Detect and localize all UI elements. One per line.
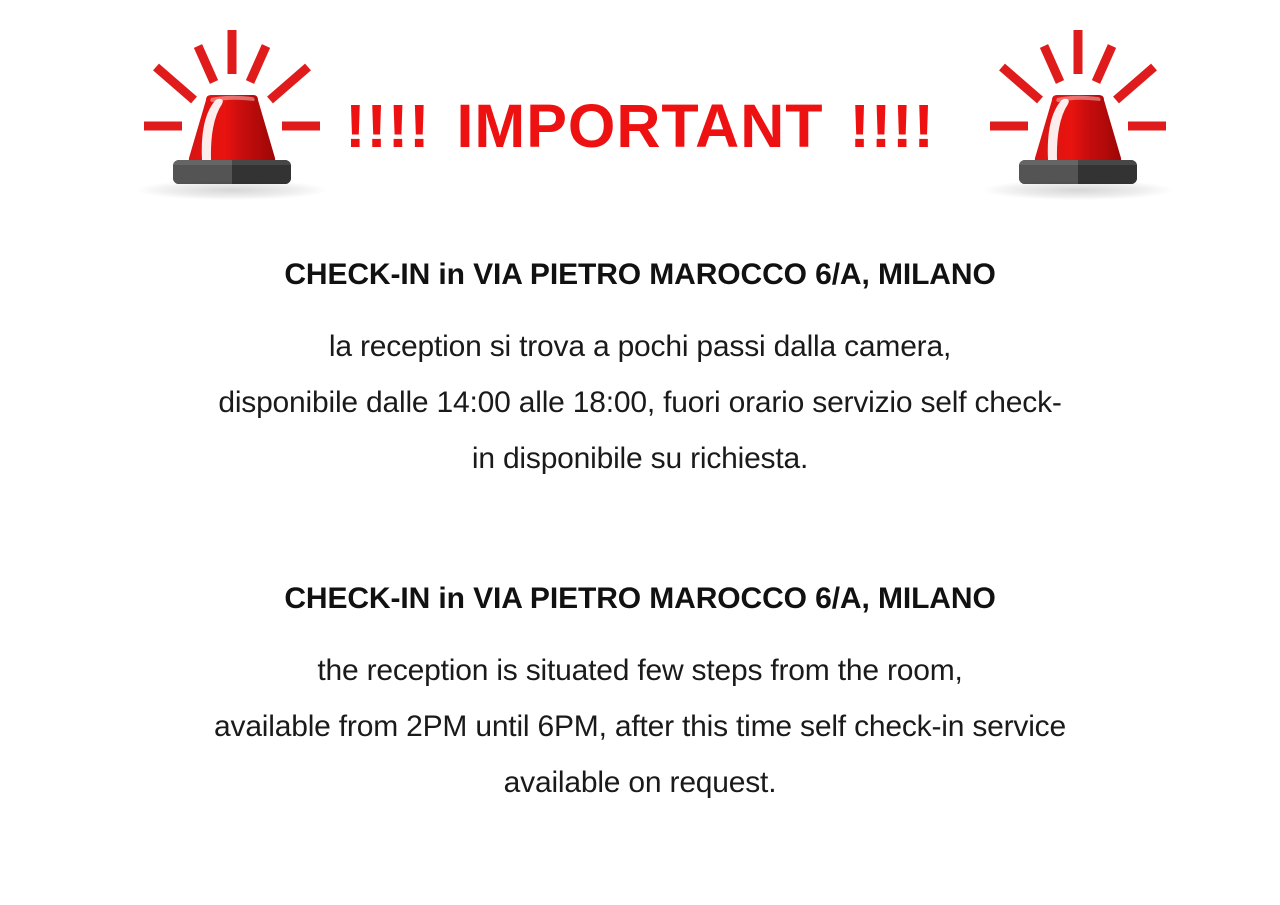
english-line-2: available from 2PM until 6PM, after this… [30, 699, 1250, 755]
english-block: CHECK-IN in VIA PIETRO MAROCCO 6/A, MILA… [0, 579, 1280, 811]
notice-header: !!!! IMPORTANT !!!! [0, 0, 1280, 200]
title-word: IMPORTANT [456, 96, 823, 157]
italian-line-3: in disponibile su richiesta. [30, 431, 1250, 487]
english-paragraph: the reception is situated few steps from… [0, 643, 1280, 811]
italian-block: CHECK-IN in VIA PIETRO MAROCCO 6/A, MILA… [0, 255, 1280, 487]
italian-line-2: disponibile dalle 14:00 alle 18:00, fuor… [30, 375, 1250, 431]
siren-dome-shape [1026, 94, 1130, 166]
siren-shadow [983, 180, 1173, 200]
notice-body: CHECK-IN in VIA PIETRO MAROCCO 6/A, MILA… [0, 255, 1280, 811]
english-line-3: available on request. [30, 755, 1250, 811]
siren-dome [180, 94, 284, 166]
siren-dome-shape [180, 94, 284, 166]
italian-heading: CHECK-IN in VIA PIETRO MAROCCO 6/A, MILA… [0, 255, 1280, 295]
italian-paragraph: la reception si trova a pochi passi dall… [0, 319, 1280, 487]
italian-line-1: la reception si trova a pochi passi dall… [30, 319, 1250, 375]
english-line-1: the reception is situated few steps from… [30, 643, 1250, 699]
page-title: !!!! IMPORTANT !!!! [300, 90, 980, 162]
notice-page: !!!! IMPORTANT !!!! [0, 0, 1280, 905]
title-bangs-left: !!!! [345, 96, 430, 157]
siren-shadow [137, 180, 327, 200]
title-bangs-right: !!!! [850, 96, 935, 157]
siren-icon-right [978, 22, 1178, 187]
siren-dome [1026, 94, 1130, 166]
english-heading: CHECK-IN in VIA PIETRO MAROCCO 6/A, MILA… [0, 579, 1280, 619]
